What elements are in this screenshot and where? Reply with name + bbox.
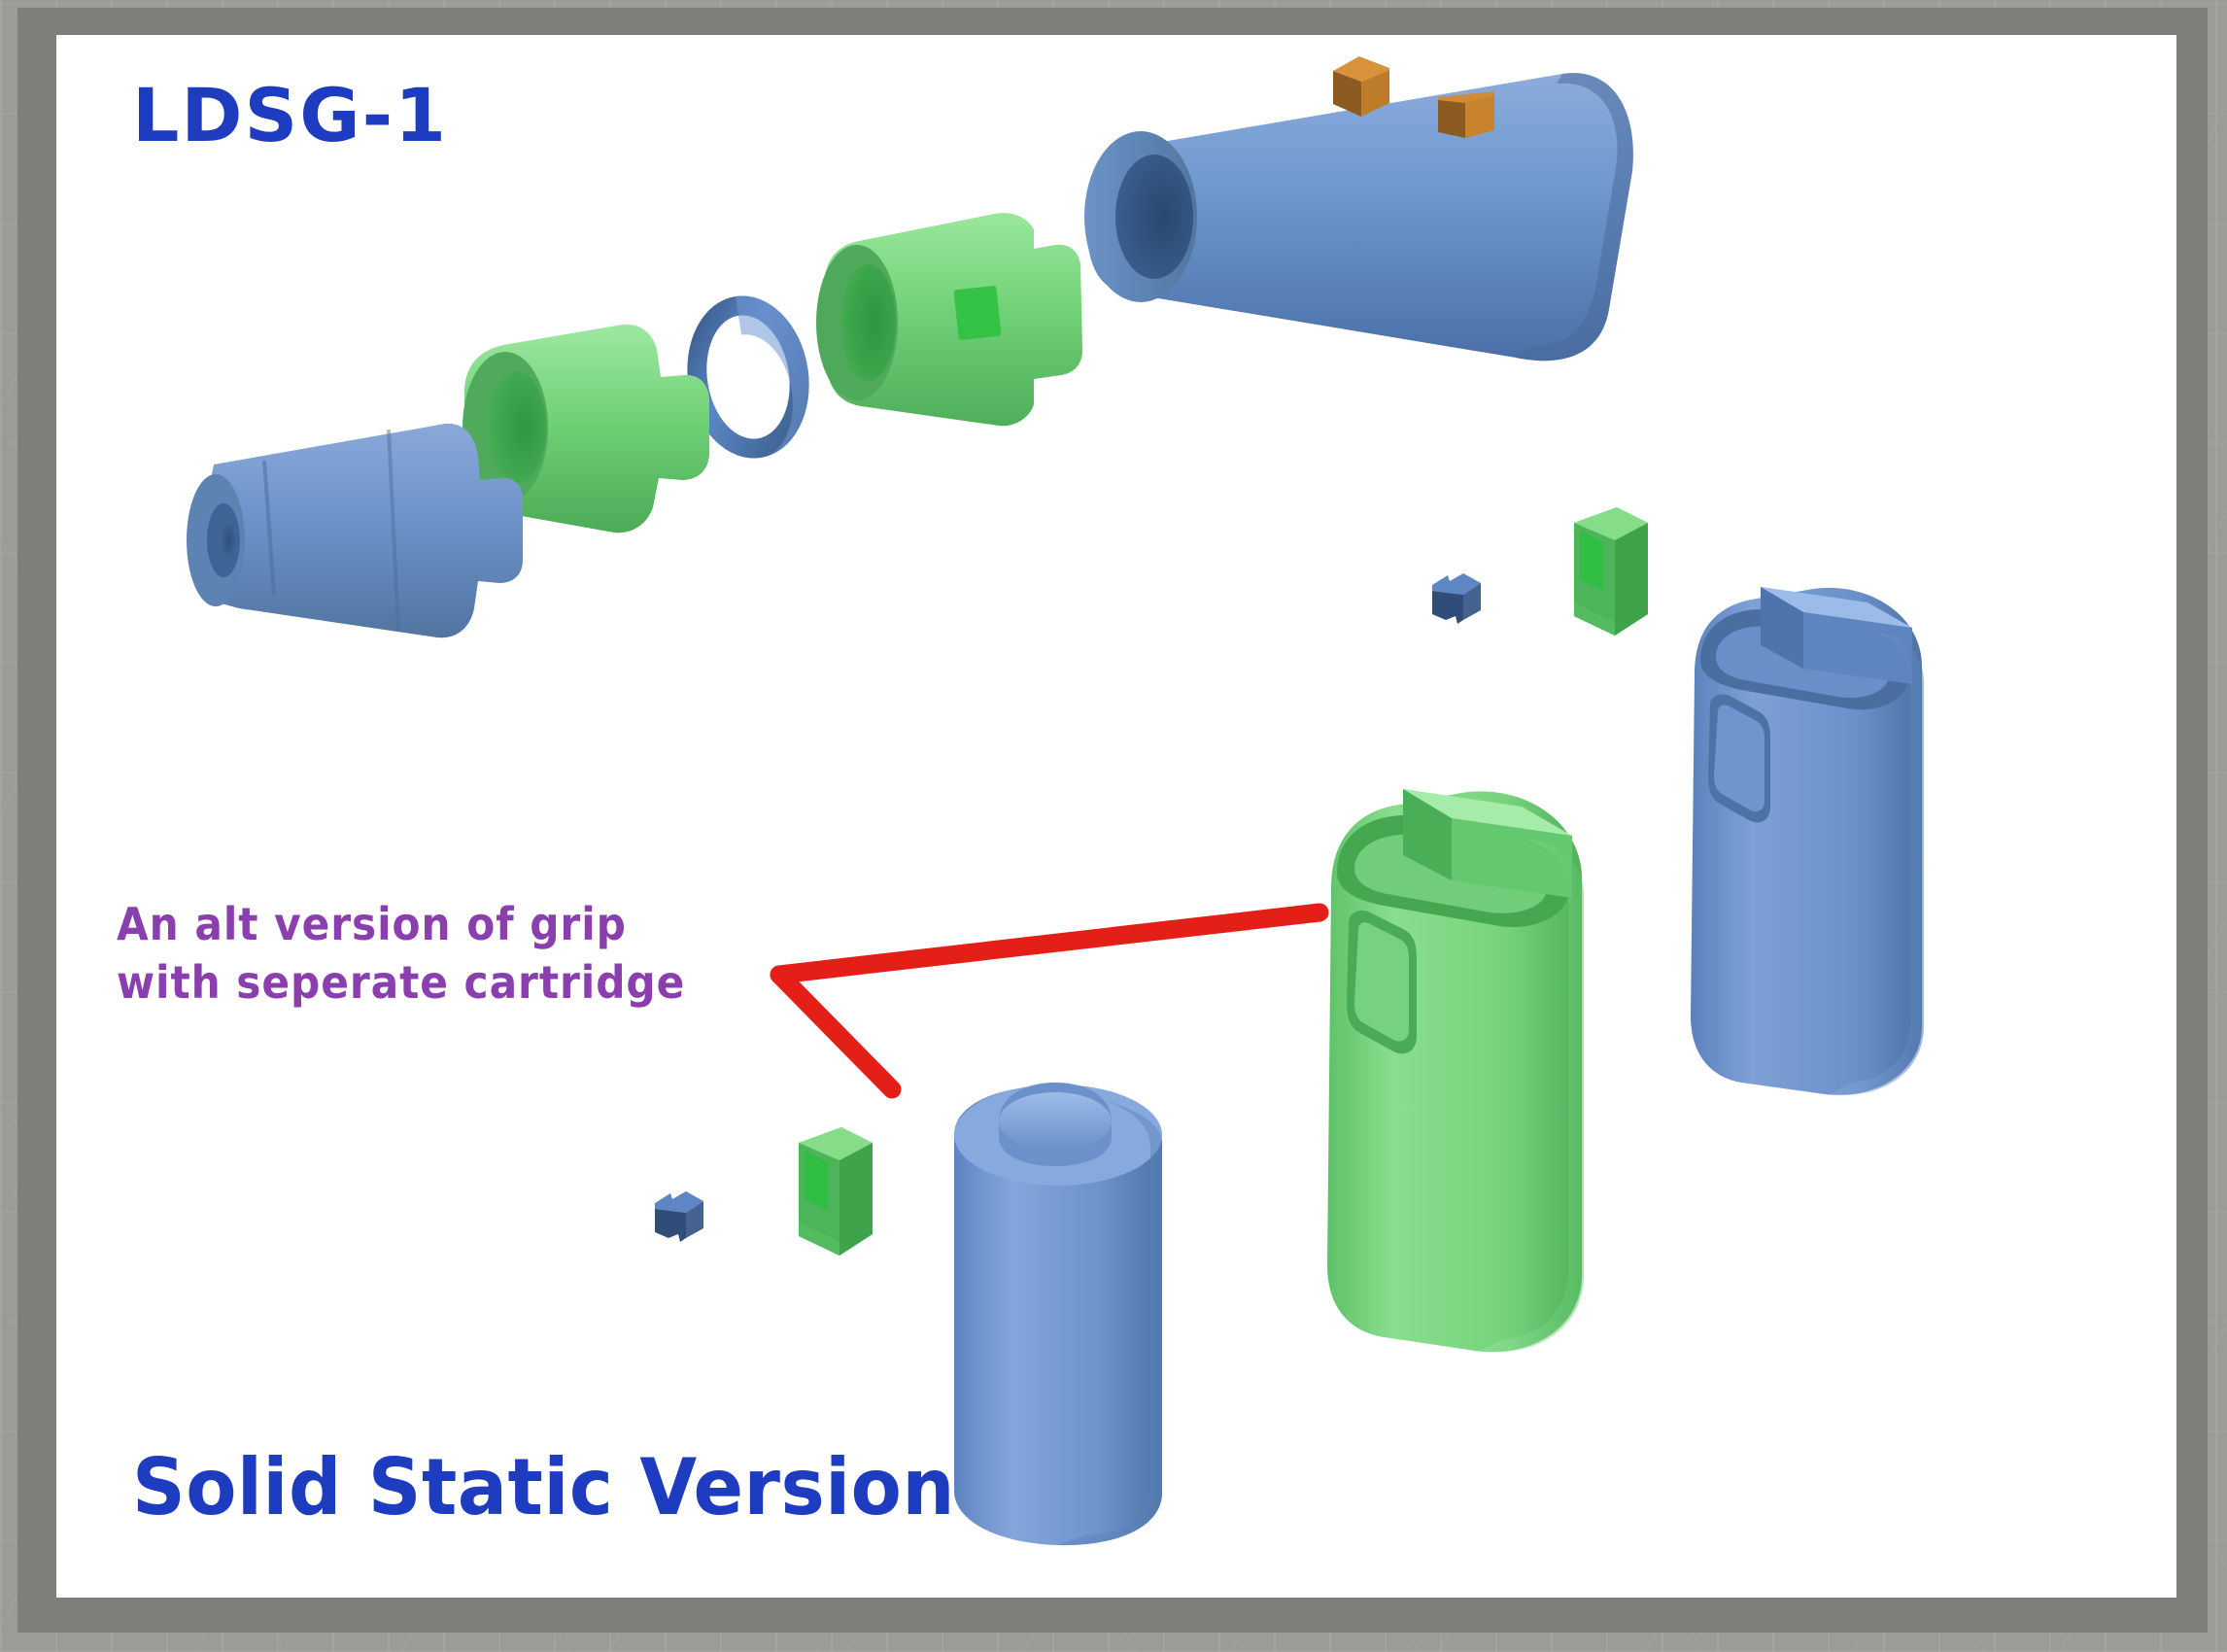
part-blue-grip bbox=[1667, 560, 1949, 1123]
render-canvas: LDSG-1 An alt version of gripwith sepera… bbox=[56, 35, 2176, 1598]
page-title: LDSG-1 bbox=[132, 72, 448, 158]
annotation-text: An alt version of gripwith seperate cart… bbox=[117, 896, 685, 1013]
part-orange-cube-b bbox=[1426, 86, 1500, 146]
pointer-upper-segment bbox=[779, 912, 1319, 975]
part-blue-cartridge bbox=[939, 1038, 1191, 1553]
pointer-lower-segment bbox=[779, 975, 892, 1089]
part-green-grip bbox=[1302, 762, 1613, 1384]
part-green-block-upper bbox=[1555, 501, 1662, 647]
annotation-line-1: An alt version of grip bbox=[117, 898, 627, 950]
image-frame: LDSG-1 An alt version of gripwith sepera… bbox=[17, 8, 2208, 1633]
part-orange-cube-a bbox=[1327, 52, 1395, 126]
part-blue-chip-upper bbox=[1424, 564, 1490, 634]
bottom-title: Solid Static Version bbox=[132, 1442, 955, 1532]
part-green-tube bbox=[805, 202, 1115, 455]
annotation-line-2: with seperate cartridge bbox=[117, 956, 685, 1009]
part-blue-chip-lower bbox=[647, 1182, 713, 1252]
part-green-block-lower bbox=[779, 1121, 886, 1267]
screenshot-stage: LDSG-1 An alt version of gripwith sepera… bbox=[0, 0, 2227, 1652]
part-nozzle-cone bbox=[181, 396, 531, 669]
